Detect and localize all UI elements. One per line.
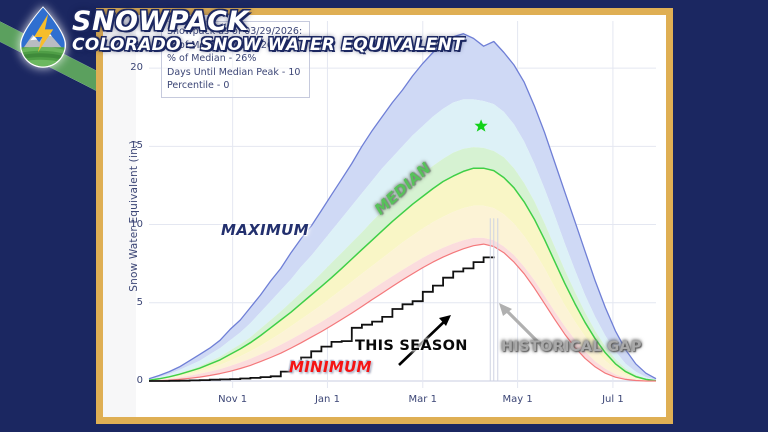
y-tick-label: 20 xyxy=(103,62,143,73)
annotation-historical-gap: HISTORICAL GAP xyxy=(501,339,642,355)
page-title: SNOWPACK xyxy=(72,7,464,36)
chart-frame: 05101520 Snow Water Equivalent (in.) Nov… xyxy=(96,8,673,424)
chart-panel: 05101520 Snow Water Equivalent (in.) Nov… xyxy=(103,15,666,417)
x-tick-label: May 1 xyxy=(502,394,532,405)
x-tick-label: Jan 1 xyxy=(315,394,340,405)
annotation-this-season: THIS SEASON xyxy=(355,338,468,354)
annotation-maximum: MAXIMUM xyxy=(221,221,309,239)
page-subtitle: COLORADO - SNOW WATER EQUIVALENT xyxy=(72,35,464,55)
x-tick-label: Nov 1 xyxy=(218,394,247,405)
y-tick-label: 0 xyxy=(103,375,143,386)
info-line-percentile: Percentile - 0 xyxy=(167,79,302,93)
x-tick-label: Mar 1 xyxy=(409,394,437,405)
title-block: SNOWPACK COLORADO - SNOW WATER EQUIVALEN… xyxy=(72,7,464,55)
annotation-minimum: MINIMUM xyxy=(289,358,372,376)
water-droplet-logo xyxy=(11,5,75,69)
info-line-days-until-peak: Days Until Median Peak - 10 xyxy=(167,66,302,80)
x-tick-label: Jul 1 xyxy=(602,394,624,405)
y-axis-label: Snow Water Equivalent (in.) xyxy=(128,101,140,331)
